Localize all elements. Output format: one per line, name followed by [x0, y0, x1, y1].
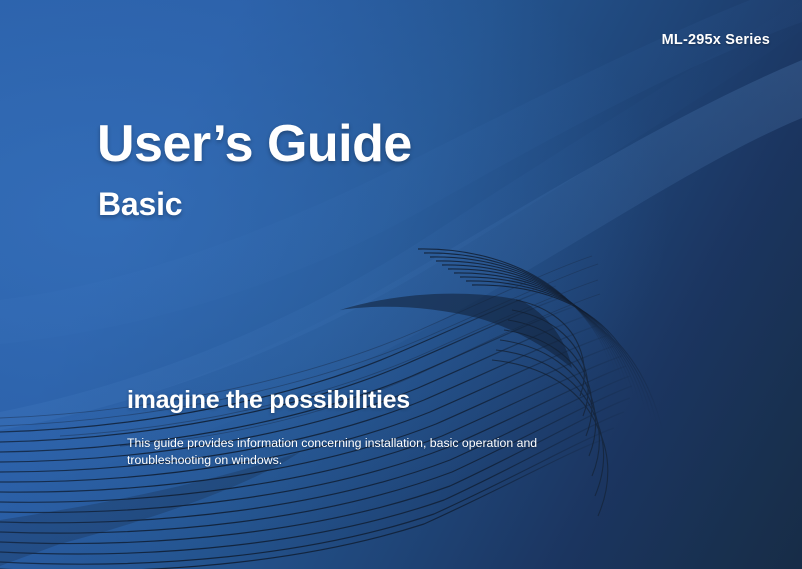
guide-cover-page: ML-295x Series User’s Guide Basic imagin… [0, 0, 802, 569]
tagline-block: imagine the possibilities This guide pro… [127, 386, 687, 470]
brand-tagline: imagine the possibilities [127, 386, 687, 415]
cover-text-layer: ML-295x Series User’s Guide Basic imagin… [0, 0, 802, 569]
title-block: User’s Guide Basic [97, 118, 412, 220]
page-subtitle: Basic [98, 188, 412, 220]
page-title: User’s Guide [97, 118, 412, 170]
guide-description: This guide provides information concerni… [127, 435, 597, 470]
series-label: ML-295x Series [662, 32, 770, 48]
